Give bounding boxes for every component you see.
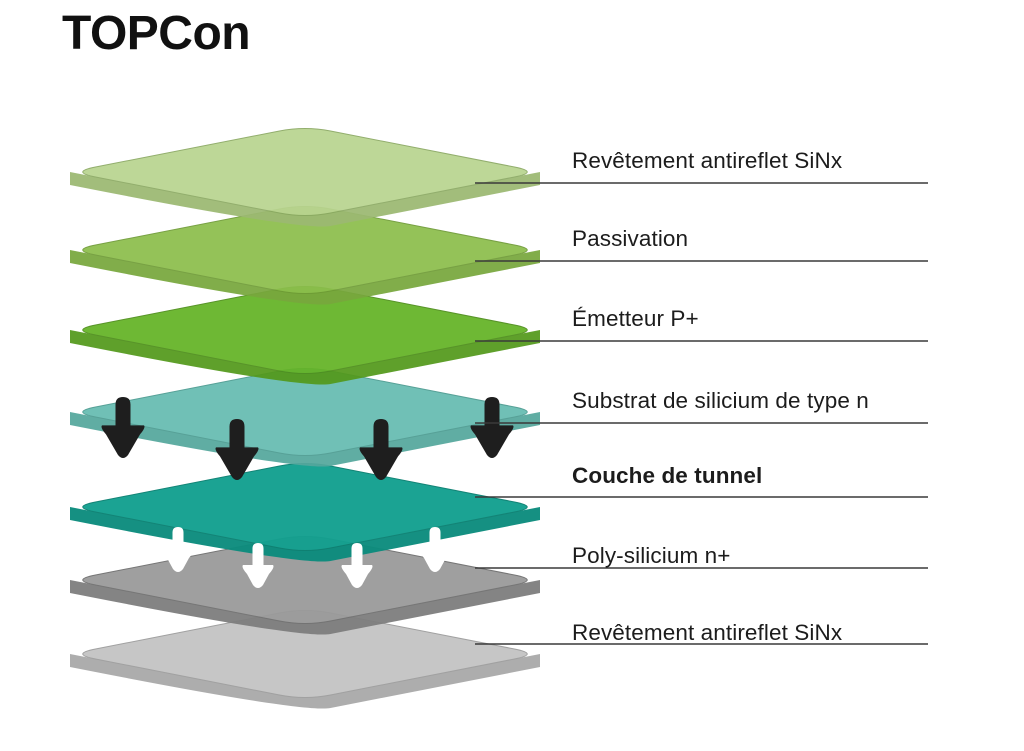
- layer-stack-illustration: [0, 0, 1024, 751]
- diagram-canvas: TOPCon Revêtement antireflet SiNxPassiva…: [0, 0, 1024, 751]
- callout-label-poly-silicon-n-plus: Poly-silicium n+: [572, 545, 731, 568]
- callout-label-arc-top: Revêtement antireflet SiNx: [572, 150, 842, 173]
- callout-label-passivation: Passivation: [572, 228, 688, 251]
- callout-line-group: [475, 183, 928, 644]
- layer-arc-top: [70, 128, 540, 226]
- callout-label-arc-bottom: Revêtement antireflet SiNx: [572, 622, 842, 645]
- layer-face-tunnel-layer: [83, 463, 527, 550]
- callout-label-tunnel-layer: Couche de tunnel: [572, 465, 762, 488]
- layer-tunnel-layer: [70, 463, 540, 561]
- layer-face-arc-top: [83, 128, 527, 215]
- callout-label-n-type-silicon-substrate: Substrat de silicium de type n: [572, 390, 869, 413]
- callout-label-emitter-p-plus: Émetteur P+: [572, 308, 699, 331]
